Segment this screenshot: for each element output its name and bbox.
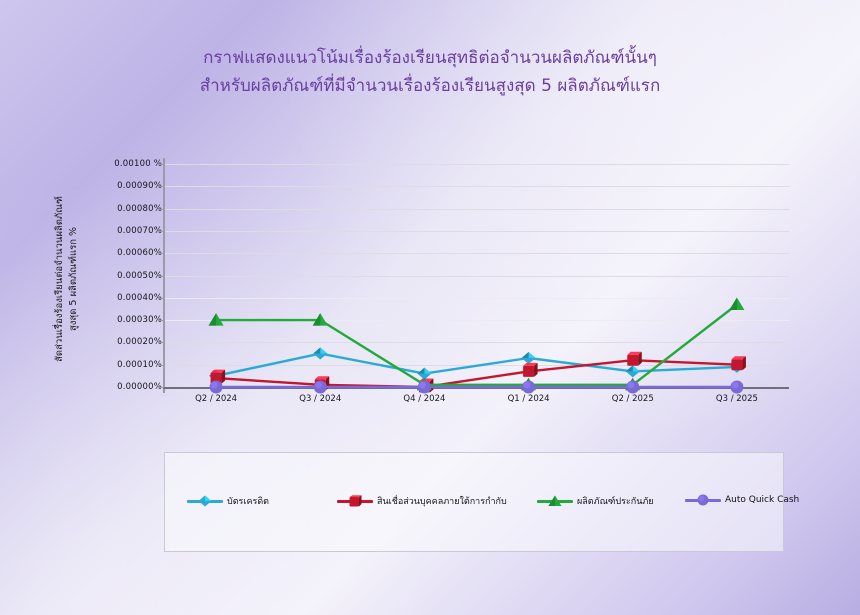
x-axis-tick-label: Q2 / 2025 — [612, 394, 654, 404]
triangle-marker-icon — [537, 495, 573, 507]
data-point-marker — [729, 297, 744, 310]
data-point-marker — [626, 381, 639, 394]
y-axis-title-line-2: สูงสุด 5 ผลิตภัณฑ์แรก % — [67, 154, 81, 404]
diamond-marker-icon — [187, 495, 223, 507]
y-axis-tick-label: 0.00000% — [117, 382, 162, 392]
y-axis-tick-label: 0.00050% — [117, 271, 162, 281]
x-axis-tick-labels: Q2 / 2024Q3 / 2024Q4 / 2024Q1 / 2024Q2 /… — [164, 394, 789, 414]
y-axis-tick-labels: 0.00100 %0.00090%0.00080%0.00070%0.00060… — [104, 158, 162, 398]
x-axis-tick-label: Q4 / 2024 — [403, 394, 445, 404]
data-point-marker — [627, 352, 642, 366]
x-axis-tick-label: Q1 / 2024 — [508, 394, 550, 404]
y-axis-tick-label: 0.00090% — [117, 181, 162, 191]
x-axis-tick-label: Q3 / 2024 — [299, 394, 341, 404]
legend-item-1[interactable]: บัตรเครดิต — [187, 494, 269, 508]
series-1 — [209, 348, 744, 382]
legend-item-label: สินเชื่อส่วนบุคคลภายใต้การกำกับ — [377, 494, 507, 508]
chart-title-line-1: กราฟแสดงแนวโน้มเรื่องร้องเรียนสุทธิต่อจำ… — [0, 44, 860, 72]
legend-items-row: บัตรเครดิตสินเชื่อส่วนบุคคลภายใต้การกำกั… — [165, 494, 783, 514]
chart-plot-area: สัดส่วนเรื่องร้องเรียนต่อจำนวนผลิตภัณฑ์ … — [0, 150, 860, 420]
data-point-marker — [313, 348, 327, 360]
x-axis-tick-label: Q2 / 2024 — [195, 394, 237, 404]
legend-item-3[interactable]: ผลิตภัณฑ์ประกันภัย — [537, 494, 654, 508]
data-point-marker — [418, 381, 431, 394]
chart-title-line-2: สำหรับผลิตภัณฑ์ที่มีจำนวนเรื่องร้องเรียน… — [0, 72, 860, 100]
y-axis-title: สัดส่วนเรื่องร้องเรียนต่อจำนวนผลิตภัณฑ์ … — [53, 154, 81, 404]
y-axis-tick — [158, 387, 164, 388]
x-axis-tick-label: Q3 / 2025 — [716, 394, 758, 404]
y-axis-tick-label: 0.00010% — [117, 360, 162, 370]
chart-series-layer — [164, 164, 789, 387]
cube-marker-icon — [337, 495, 373, 507]
y-axis-title-line-1: สัดส่วนเรื่องร้องเรียนต่อจำนวนผลิตภัณฑ์ — [53, 154, 67, 404]
y-axis-tick-label: 0.00100 % — [114, 159, 162, 169]
circle-marker-icon — [685, 494, 721, 506]
series-3 — [209, 297, 745, 390]
data-point-marker — [522, 352, 536, 364]
legend-item-label: บัตรเครดิต — [227, 494, 269, 508]
data-point-marker — [210, 381, 223, 394]
y-axis-tick-label: 0.00070% — [117, 226, 162, 236]
data-point-marker — [730, 381, 743, 394]
data-point-marker — [314, 381, 327, 394]
legend-item-4[interactable]: Auto Quick Cash — [685, 494, 799, 506]
data-point-marker — [523, 363, 538, 377]
chart-title: กราฟแสดงแนวโน้มเรื่องร้องเรียนสุทธิต่อจำ… — [0, 44, 860, 100]
legend-item-label: Auto Quick Cash — [725, 495, 799, 505]
y-axis-tick-label: 0.00020% — [117, 337, 162, 347]
legend-item-label: ผลิตภัณฑ์ประกันภัย — [577, 494, 654, 508]
y-axis-tick-label: 0.00030% — [117, 315, 162, 325]
data-point-marker — [626, 365, 640, 377]
legend-item-2[interactable]: สินเชื่อส่วนบุคคลภายใต้การกำกับ — [337, 494, 507, 508]
data-point-marker — [731, 356, 746, 370]
y-axis-tick-label: 0.00080% — [117, 204, 162, 214]
y-axis-tick-label: 0.00060% — [117, 248, 162, 258]
data-point-marker — [522, 381, 535, 394]
chart-legend: บัตรเครดิตสินเชื่อส่วนบุคคลภายใต้การกำกั… — [164, 452, 784, 552]
y-axis-tick-label: 0.00040% — [117, 293, 162, 303]
